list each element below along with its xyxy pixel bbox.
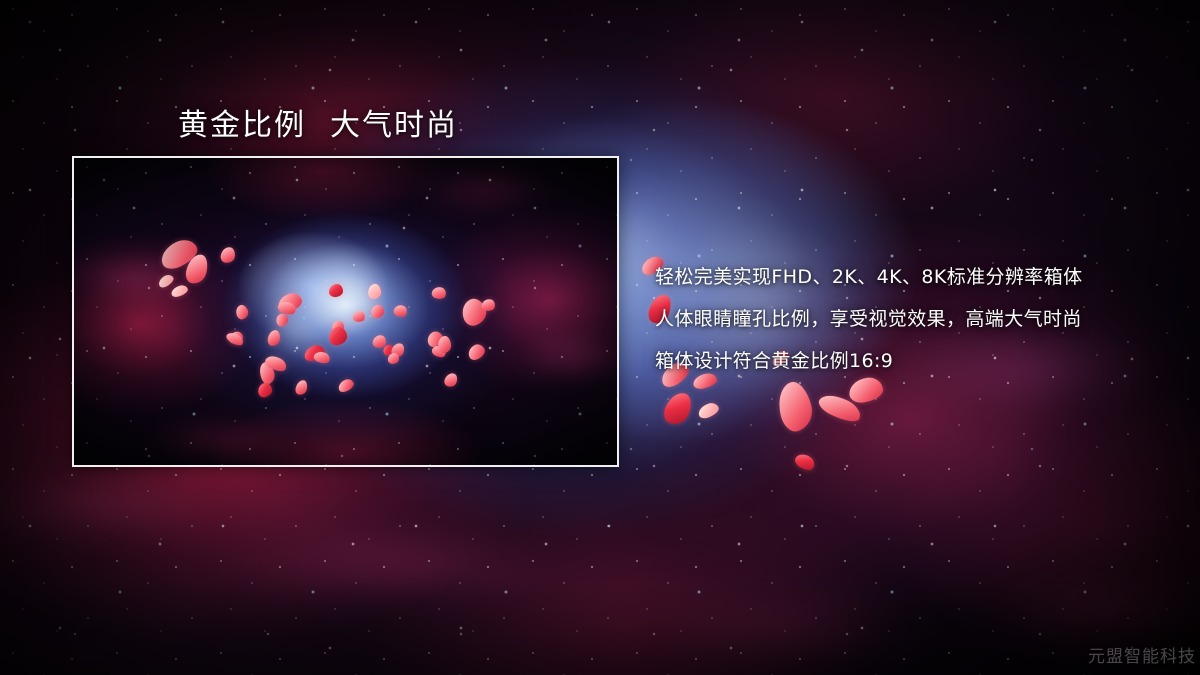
slide-body-text: 轻松完美实现FHD、2K、4K、8K标准分辨率箱体 人体眼睛瞳孔比例，享受视觉效…: [655, 256, 1175, 382]
body-line-1: 轻松完美实现FHD、2K、4K、8K标准分辨率箱体: [655, 256, 1175, 298]
company-watermark: 元盟智能科技: [1088, 642, 1196, 667]
framed-image-vignette: [74, 158, 617, 465]
framed-image: [72, 156, 619, 467]
slide-title-part-2: 大气时尚: [330, 108, 458, 143]
presentation-slide: 黄金比例大气时尚 轻松完美实现FHD、2K、4K、8K标准分辨率箱体 人体眼睛瞳…: [0, 0, 1200, 675]
body-line-3: 箱体设计符合黄金比例16:9: [655, 340, 1175, 382]
slide-title-part-1: 黄金比例: [178, 108, 306, 143]
slide-title: 黄金比例大气时尚: [178, 100, 458, 144]
body-line-2: 人体眼睛瞳孔比例，享受视觉效果，高端大气时尚: [655, 298, 1175, 340]
